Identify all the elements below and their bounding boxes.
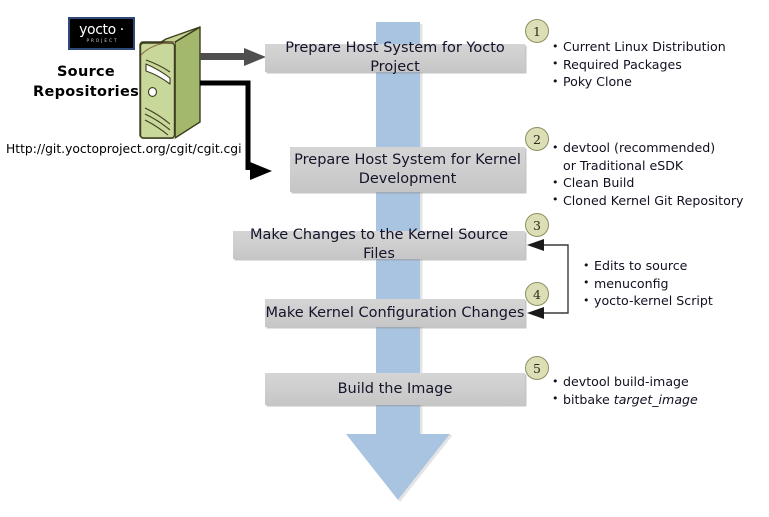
step-2-bullets: devtool (recommended) or Traditional eSD…: [552, 139, 743, 209]
connector-server-to-step1: [200, 48, 266, 66]
list-item: Poky Clone: [552, 73, 726, 91]
yocto-project-logo: yocto · PROJECT: [68, 17, 135, 50]
yocto-logo-subtext: PROJECT: [84, 39, 118, 43]
source-repositories-label: Source Repositories: [28, 62, 144, 102]
step-box-1[interactable]: Prepare Host System for Yocto Project: [265, 44, 525, 72]
source-repositories-label-line2: Repositories: [28, 82, 144, 102]
step-number-2: 2: [525, 127, 549, 151]
list-item: bitbake target_image: [552, 391, 698, 409]
step-number-1: 1: [525, 19, 549, 43]
step-box-2[interactable]: Prepare Host System for Kernel Developme…: [290, 147, 525, 192]
step-number-5: 5: [525, 356, 549, 380]
yocto-logo-wordmark: yocto ·: [79, 23, 124, 37]
step-5-bullets: devtool build-image bitbake target_image: [552, 373, 698, 408]
list-item: Clean Build: [552, 174, 743, 192]
step-box-5[interactable]: Build the Image: [265, 373, 525, 405]
list-item: yocto-kernel Script: [583, 292, 713, 310]
step-3-and-4-bullets: Edits to source menuconfig yocto-kernel …: [583, 257, 713, 310]
step-1-bullets: Current Linux Distribution Required Pack…: [552, 38, 726, 91]
connector-server-to-step2: [200, 83, 272, 180]
step-box-3[interactable]: Make Changes to the Kernel Source Files: [233, 231, 525, 259]
list-item: devtool (recommended) or Traditional eSD…: [552, 139, 723, 174]
list-item: Current Linux Distribution: [552, 38, 726, 56]
source-repositories-url: Http://git.yoctoproject.org/cgit/cgit.cg…: [6, 142, 242, 156]
list-item: Cloned Kernel Git Repository: [552, 192, 743, 210]
server-tower-icon: [140, 27, 200, 138]
step-number-3: 3: [525, 213, 549, 237]
list-item: Required Packages: [552, 56, 726, 74]
step-number-4: 4: [525, 282, 549, 306]
list-item: menuconfig: [583, 275, 713, 293]
source-repositories-label-line1: Source: [28, 62, 144, 82]
bitbake-command: bitbake: [563, 392, 614, 407]
bitbake-target-argument: target_image: [614, 392, 698, 407]
connector-step3-step4-loop: [527, 239, 568, 319]
list-item: Edits to source: [583, 257, 713, 275]
list-item: devtool build-image: [552, 373, 698, 391]
step-box-4[interactable]: Make Kernel Configuration Changes: [265, 299, 525, 327]
